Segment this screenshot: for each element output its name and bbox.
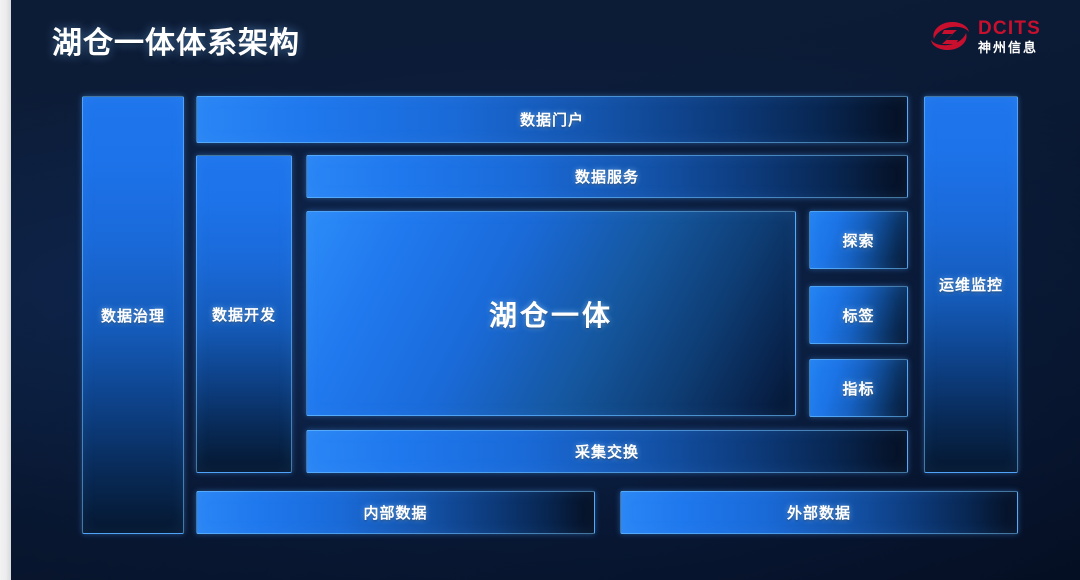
architecture-slide: 湖仓一体体系架构 DCITS 神州信息 数据治理 数据开发 数据门户 数据服务 …: [0, 0, 1080, 580]
block-internal-data[interactable]: 内部数据: [196, 491, 595, 534]
block-explore[interactable]: 探索: [809, 211, 908, 269]
block-collect-exchange[interactable]: 采集交换: [306, 430, 908, 473]
block-external-data[interactable]: 外部数据: [620, 491, 1018, 534]
block-data-governance[interactable]: 数据治理: [82, 96, 184, 534]
logo-english-text: DCITS: [978, 19, 1041, 38]
block-data-service[interactable]: 数据服务: [306, 155, 908, 198]
block-lakehouse[interactable]: 湖仓一体: [306, 211, 796, 416]
logo-chinese-text: 神州信息: [978, 41, 1041, 54]
company-logo: DCITS 神州信息: [928, 10, 1060, 62]
logo-wordmark: DCITS 神州信息: [978, 19, 1041, 54]
left-edge-rail: [0, 0, 11, 580]
block-metric[interactable]: 指标: [809, 359, 908, 417]
block-tag[interactable]: 标签: [809, 286, 908, 344]
block-ops-monitoring[interactable]: 运维监控: [924, 96, 1018, 473]
block-data-portal[interactable]: 数据门户: [196, 96, 908, 143]
page-title: 湖仓一体体系架构: [52, 18, 300, 62]
block-data-development[interactable]: 数据开发: [196, 155, 292, 473]
dcits-swirl-icon: [928, 16, 972, 56]
